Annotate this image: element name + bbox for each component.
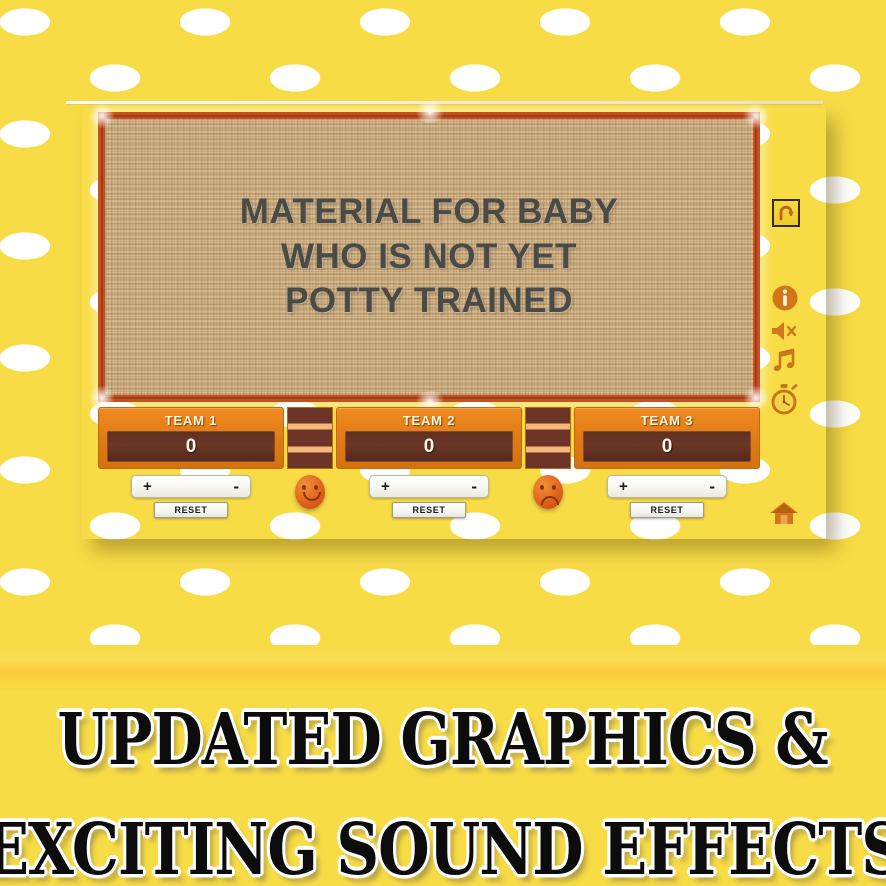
team-panel-3[interactable]: TEAM 3 0	[574, 407, 760, 469]
team-1-plus-button[interactable]: +	[143, 479, 152, 494]
team-2-reset-button[interactable]: RESET	[392, 502, 466, 518]
happy-face-left-eye	[302, 485, 306, 490]
home-icon[interactable]	[767, 498, 801, 528]
happy-face-mouth	[303, 492, 321, 501]
team-3-plus-button[interactable]: +	[619, 479, 628, 494]
happy-face-icon[interactable]	[287, 475, 333, 509]
team-3-score: 0	[583, 431, 751, 462]
sad-face-right-eye	[552, 485, 556, 490]
banner-line-2: EXCITING SOUND EFFECTS	[0, 814, 886, 885]
team-3-plus-minus-bar[interactable]: + -	[607, 475, 727, 498]
sad-face-icon[interactable]	[525, 475, 571, 509]
team-3-controls: + - RESET	[574, 475, 760, 518]
banner-gradient-band	[0, 645, 886, 693]
scoreboard-divider-2	[525, 407, 571, 469]
window-top-edge	[66, 101, 823, 104]
happy-face-right-eye	[314, 485, 318, 490]
team-2-plus-minus-bar[interactable]: + -	[369, 475, 489, 498]
redo-icon[interactable]	[772, 199, 800, 227]
score-controls: + - RESET + - RESET	[98, 475, 760, 527]
team-panel-1[interactable]: TEAM 1 0	[98, 407, 284, 469]
team-panel-2[interactable]: TEAM 2 0	[336, 407, 522, 469]
team-2-minus-button[interactable]: -	[471, 478, 477, 495]
question-board-frame: MATERIAL FOR BABY WHO IS NOT YET POTTY T…	[98, 112, 760, 402]
info-icon[interactable]	[770, 283, 800, 313]
team-3-reset-button[interactable]: RESET	[630, 502, 704, 518]
team-1-label: TEAM 1	[165, 413, 217, 428]
team-1-minus-button[interactable]: -	[233, 478, 239, 495]
team-1-reset-button[interactable]: RESET	[154, 502, 228, 518]
banner-line-1: UPDATED GRAPHICS &	[58, 704, 828, 775]
team-1-score: 0	[107, 431, 275, 462]
team-1-plus-minus-bar[interactable]: + -	[131, 475, 251, 498]
sad-face-mouth	[541, 496, 559, 505]
team-2-controls: + - RESET	[336, 475, 522, 518]
music-note-icon[interactable]	[770, 346, 800, 376]
team-1-controls: + - RESET	[98, 475, 284, 518]
timer-icon[interactable]	[768, 382, 800, 416]
team-2-label: TEAM 2	[403, 413, 455, 428]
sound-mute-icon[interactable]	[768, 318, 802, 344]
presentation-slide: MATERIAL FOR BABY WHO IS NOT YET POTTY T…	[82, 107, 826, 532]
stage: MATERIAL FOR BABY WHO IS NOT YET POTTY T…	[0, 0, 886, 886]
scoreboard-divider-1	[287, 407, 333, 469]
team-3-minus-button[interactable]: -	[709, 478, 715, 495]
question-board: MATERIAL FOR BABY WHO IS NOT YET POTTY T…	[105, 119, 753, 395]
scoreboard: TEAM 1 0 TEAM 2 0 TEAM 3 0	[98, 407, 760, 469]
team-2-score: 0	[345, 431, 513, 462]
team-2-plus-button[interactable]: +	[381, 479, 390, 494]
promo-banner: UPDATED GRAPHICS & EXCITING SOUND EFFECT…	[0, 688, 886, 858]
team-3-label: TEAM 3	[641, 413, 693, 428]
question-text: MATERIAL FOR BABY WHO IS NOT YET POTTY T…	[240, 190, 619, 324]
sad-face-left-eye	[540, 485, 544, 490]
